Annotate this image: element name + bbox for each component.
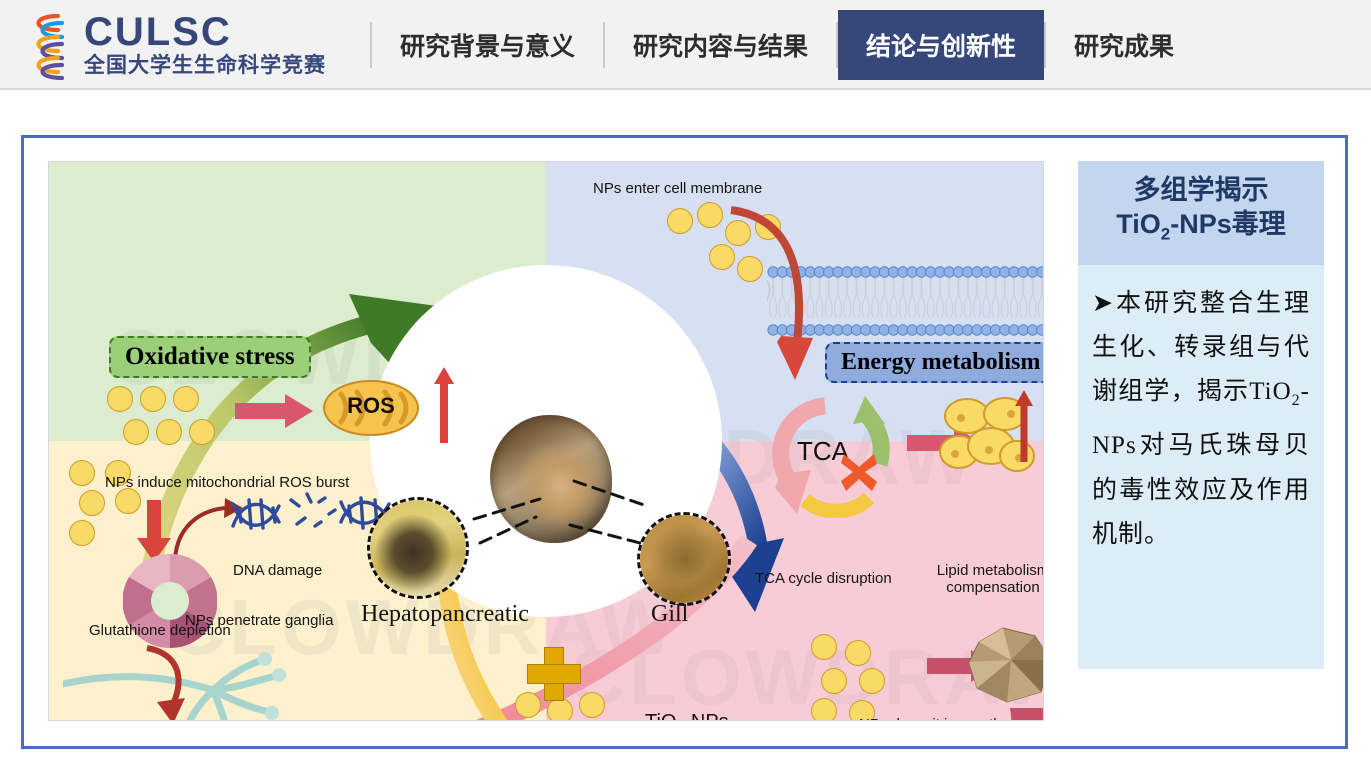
- slide-content: CLOWDRAW CLOWDRAW CLOWDRAW CLOWDRAW: [48, 161, 1324, 727]
- body-formula-prefix: TiO: [1249, 378, 1291, 405]
- tab-research-content[interactable]: 研究内容与结果: [605, 10, 836, 80]
- tab-research-achievements[interactable]: 研究成果: [1046, 10, 1202, 80]
- label-energy-metabolism: Energy metabolism: [825, 342, 1044, 383]
- caption-tca-disruption: TCA cycle disruption: [755, 570, 892, 587]
- main-navigation: 研究背景与意义 研究内容与结果 结论与创新性 研究成果: [370, 0, 1202, 90]
- dashed-connector-lines: [444, 447, 674, 577]
- side-title-line1: 多组学揭示: [1084, 173, 1318, 207]
- tab-research-background[interactable]: 研究背景与意义: [372, 10, 603, 80]
- plus-sign-icon: [527, 647, 579, 699]
- tio2-subscript: 2: [1161, 224, 1170, 243]
- tab-conclusion-innovation[interactable]: 结论与创新性: [838, 10, 1044, 80]
- caption-lipid-compensation: Lipid metabolism compensation: [925, 562, 1044, 596]
- app-header: CULSC 全国大学生生命科学竞赛 研究背景与意义 研究内容与结果 结论与创新性…: [0, 0, 1371, 90]
- brand-logo[interactable]: CULSC 全国大学生生命科学竞赛: [18, 8, 348, 82]
- tio2-suffix: -NPs毒理: [1170, 209, 1286, 239]
- body-formula-subscript: 2: [1292, 392, 1301, 409]
- caption-np-enter-membrane: NPs enter cell membrane: [593, 180, 762, 197]
- logo-subtitle: 全国大学生生命科学竞赛: [84, 53, 326, 79]
- side-panel-body: ➤本研究整合生理生化、转录组与代谢组学，揭示TiO2-NPs对马氏珠母贝的毒性效…: [1078, 265, 1324, 669]
- dna-helix-logo-icon: [18, 10, 74, 80]
- label-gill: Gill: [651, 606, 688, 623]
- caption-np-ros-burst: NPs induce mitochondrial ROS burst: [105, 474, 349, 491]
- caption-np-penetrate-ganglia: NPs penetrate ganglia: [185, 612, 333, 629]
- label-tio2-nps: TiO₂-NPs: [645, 714, 729, 721]
- label-hepatopancreatic: Hepatopancreatic: [361, 606, 529, 623]
- logo-acronym: CULSC: [84, 11, 326, 53]
- label-oxidative-stress: Oxidative stress: [109, 336, 311, 378]
- slide-frame: CLOWDRAW CLOWDRAW CLOWDRAW CLOWDRAW: [21, 135, 1348, 749]
- conclusion-side-panel: 多组学揭示 TiO2-NPs毒理 ➤本研究整合生理生化、转录组与代谢组学，揭示T…: [1078, 161, 1324, 681]
- side-title-line2: TiO2-NPs毒理: [1084, 207, 1318, 251]
- caption-np-deposit-mantle: NPs deposit in mantle: [859, 716, 1005, 721]
- toxicity-mechanism-diagram: CLOWDRAW CLOWDRAW CLOWDRAW CLOWDRAW: [48, 161, 1044, 721]
- bullet-marker: ➤: [1092, 289, 1114, 317]
- tio2-prefix: TiO: [1116, 209, 1161, 239]
- caption-dna-damage: DNA damage: [233, 562, 322, 579]
- side-panel-title: 多组学揭示 TiO2-NPs毒理: [1078, 161, 1324, 265]
